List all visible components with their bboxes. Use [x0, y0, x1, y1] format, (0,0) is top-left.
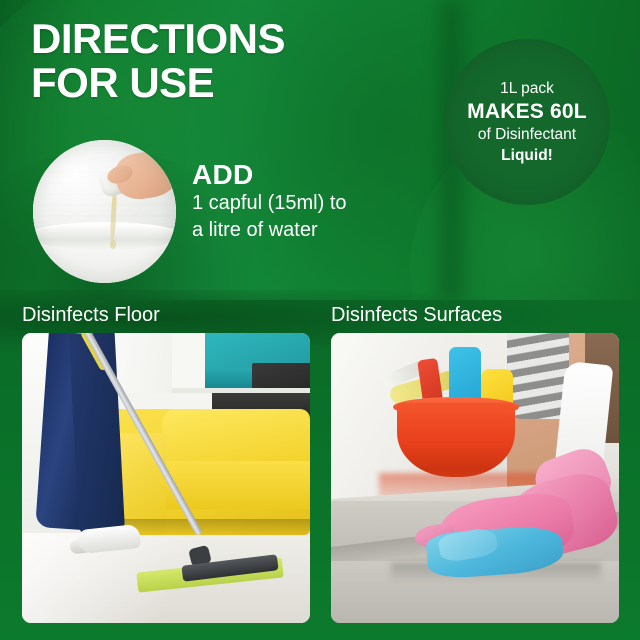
floor-photo — [22, 333, 310, 623]
directions-for-use-poster: DIRECTIONS FOR USE 1L pack MAKES 60L of … — [0, 0, 640, 640]
photo-vignette — [33, 140, 176, 283]
badge-line-pack-size: 1L pack — [500, 79, 554, 99]
badge-line-product: of Disinfectant — [478, 124, 576, 145]
add-line-2: a litre of water — [192, 217, 347, 244]
caption-disinfects-floor: Disinfects Floor — [22, 303, 160, 327]
badge-line-liquid: Liquid! — [501, 145, 553, 166]
add-title: ADD — [192, 160, 347, 190]
capful-photo — [33, 140, 176, 283]
sofa-shadow — [110, 519, 310, 537]
page-title: DIRECTIONS FOR USE — [31, 17, 285, 105]
badge-line-makes: MAKES 60L — [467, 99, 587, 124]
surfaces-photo — [331, 333, 619, 623]
add-line-1: 1 capful (15ml) to — [192, 190, 347, 217]
makes-badge: 1L pack MAKES 60L of Disinfectant Liquid… — [444, 39, 610, 205]
caption-disinfects-surfaces: Disinfects Surfaces — [331, 303, 502, 327]
sofa-back — [162, 409, 310, 461]
add-instruction: ADD 1 capful (15ml) to a litre of water — [192, 160, 347, 244]
